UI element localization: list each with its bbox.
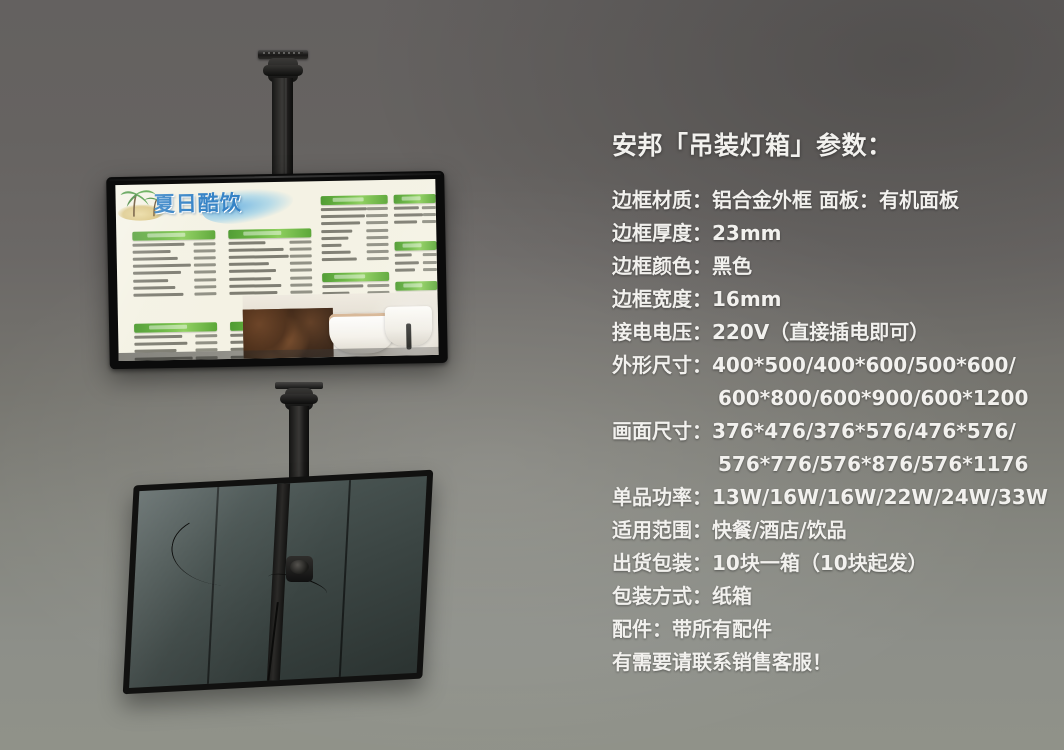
menu-hero-title: 夏日酷饮 (153, 187, 242, 219)
hanging-lightbox-front: 夏日酷饮 (106, 171, 448, 369)
menu-section-2 (228, 228, 312, 298)
product-spec-image: 夏日酷饮 (0, 0, 1064, 750)
spec-line: 画面尺寸：376*476/376*576/476*576/ (612, 415, 1042, 448)
swivel-joint-panel (286, 556, 313, 582)
spec-line: 边框材质：铝合金外框 面板：有机面板 (612, 184, 1042, 217)
spoon-icon (406, 324, 411, 349)
spec-line: 边框颜色：黑色 (612, 250, 1042, 283)
lightbox-rear-assembly (123, 470, 434, 695)
spec-line: 外形尺寸：400*500/400*600/500*600/ (612, 349, 1042, 382)
spec-line: 边框宽度：16mm (612, 283, 1042, 316)
spec-line: 包装方式：纸箱 (612, 580, 1042, 613)
section-header-banner (320, 195, 387, 205)
menu-section-4 (394, 194, 436, 227)
spec-line: 单品功率：13W/16W/16W/22W/24W/33W (612, 481, 1042, 514)
spec-line: 600*800/600*900/600*1200 (612, 382, 1042, 415)
spec-line: 有需要请联系销售客服！ (612, 646, 1042, 679)
section-header-banner (395, 241, 437, 251)
spec-line: 576*776/576*876/576*1176 (612, 448, 1042, 481)
section-header-banner (228, 228, 311, 239)
spec-line: 配件：带所有配件 (612, 613, 1042, 646)
section-header-banner (322, 271, 389, 281)
menu-board-screen: 夏日酷饮 (115, 179, 438, 361)
page-title: 安邦「吊装灯箱」参数： (612, 126, 1042, 162)
spec-line: 接电电压：220V（直接插电即可） (612, 316, 1042, 349)
section-header-banner (132, 230, 215, 241)
section-header-banner (394, 194, 436, 204)
spec-line: 边框厚度：23mm (612, 217, 1042, 250)
mount-pole-upper (272, 78, 293, 186)
lightbox-rear-frame (123, 470, 434, 695)
menu-section-3 (320, 195, 388, 265)
menu-section-6 (395, 241, 437, 274)
menu-hero-banner: 夏日酷饮 (115, 181, 308, 231)
panel-seam-right (339, 480, 351, 677)
specification-list: 边框材质：铝合金外框 面板：有机面板边框厚度：23mm边框颜色：黑色边框宽度：1… (612, 184, 1042, 679)
spec-line: 适用范围：快餐/酒店/饮品 (612, 514, 1042, 547)
menu-section-1 (132, 230, 216, 300)
section-header-banner (134, 322, 217, 333)
lightbox-rear-face (129, 476, 427, 688)
spec-line: 出货包装：10块一箱（10块起发） (612, 547, 1042, 580)
section-header-banner (396, 281, 438, 291)
specification-panel: 安邦「吊装灯箱」参数： 边框材质：铝合金外框 面板：有机面板边框厚度：23mm边… (612, 126, 1042, 679)
